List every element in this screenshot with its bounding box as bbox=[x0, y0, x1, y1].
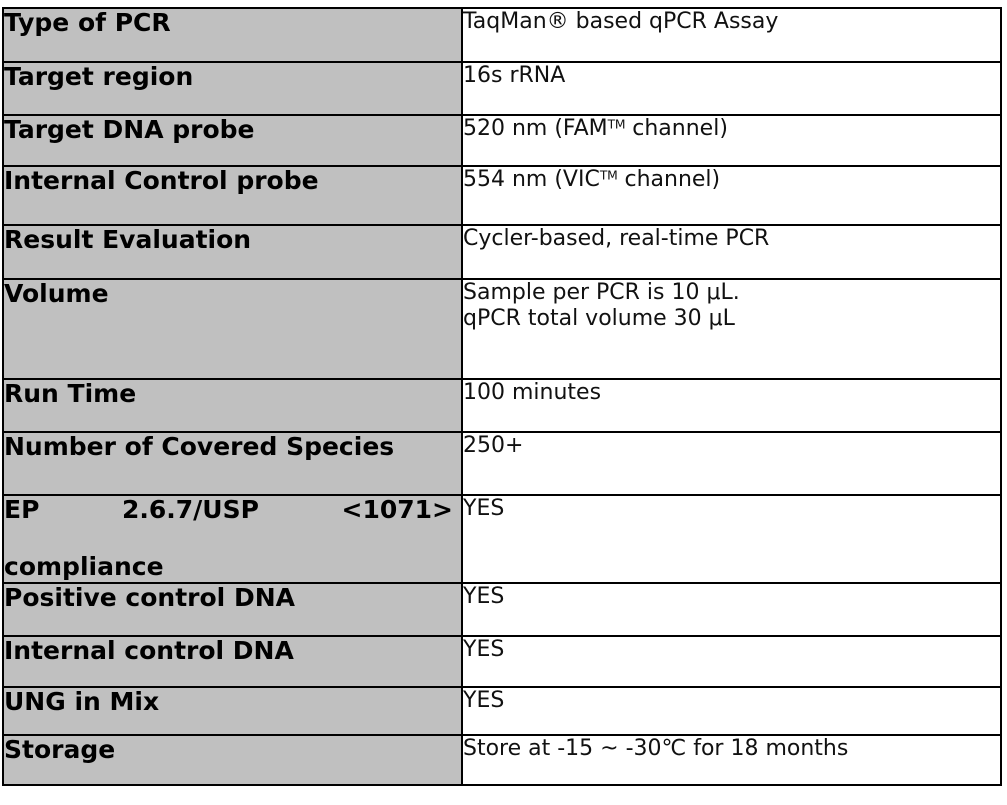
row-value: YES bbox=[463, 496, 1000, 522]
row-value: TaqMan® based qPCR Assay bbox=[463, 9, 1000, 35]
row-value: YES bbox=[463, 688, 1000, 714]
row-value-prefix: 520 nm (FAM bbox=[463, 116, 608, 141]
table-row: Positive control DNAYES bbox=[3, 583, 1001, 636]
row-value: YES bbox=[463, 584, 1000, 610]
row-value: 554 nm (VICTM channel) bbox=[463, 167, 1000, 193]
row-label: Positive control DNA bbox=[4, 583, 295, 612]
row-label-cell: Result Evaluation bbox=[3, 225, 462, 279]
row-value-prefix: 554 nm (VIC bbox=[463, 167, 600, 192]
row-value: 250+ bbox=[463, 433, 1000, 459]
row-value-cell: 250+ bbox=[462, 432, 1001, 495]
row-label-cell: Target region bbox=[3, 62, 462, 115]
row-label: Number of Covered Species bbox=[4, 432, 394, 461]
row-label-cell: Type of PCR bbox=[3, 8, 462, 62]
row-value-cell: 554 nm (VICTM channel) bbox=[462, 166, 1001, 225]
row-value: Store at -15 ~ -30℃ for 18 months bbox=[463, 736, 1000, 762]
row-label: Target region bbox=[4, 62, 193, 91]
row-value-suffix: channel) bbox=[625, 116, 728, 141]
row-label: Volume bbox=[4, 279, 109, 308]
table-row: Type of PCRTaqMan® based qPCR Assay bbox=[3, 8, 1001, 62]
row-label: Target DNA probe bbox=[4, 115, 255, 144]
trademark-icon: TM bbox=[608, 118, 626, 132]
row-value: YES bbox=[463, 637, 1000, 663]
row-value-cell: YES bbox=[462, 687, 1001, 735]
row-label-cell: UNG in Mix bbox=[3, 687, 462, 735]
row-label-cell: Positive control DNA bbox=[3, 583, 462, 636]
row-label-line: compliance bbox=[4, 552, 164, 581]
table-row: Result EvaluationCycler-based, real-time… bbox=[3, 225, 1001, 279]
row-value-cell: YES bbox=[462, 583, 1001, 636]
row-value: qPCR total volume 30 μL bbox=[463, 306, 1000, 332]
row-label-line: EP 2.6.7/USP <1071> bbox=[4, 496, 461, 553]
row-value: 520 nm (FAMTM channel) bbox=[463, 116, 1000, 142]
row-value: 16s rRNA bbox=[463, 63, 1000, 89]
row-label-cell: Internal control DNA bbox=[3, 636, 462, 687]
row-label: Internal control DNA bbox=[4, 636, 294, 665]
row-value-suffix: channel) bbox=[618, 167, 721, 192]
table-row: VolumeSample per PCR is 10 μL.qPCR total… bbox=[3, 279, 1001, 379]
table-row: Target DNA probe520 nm (FAMTM channel) bbox=[3, 115, 1001, 166]
row-value: 100 minutes bbox=[463, 380, 1000, 406]
row-label-cell: EP 2.6.7/USP <1071>compliance bbox=[3, 495, 462, 583]
table-row: Number of Covered Species250+ bbox=[3, 432, 1001, 495]
row-value-cell: 100 minutes bbox=[462, 379, 1001, 432]
row-label: Run Time bbox=[4, 379, 136, 408]
pcr-specification-table: Type of PCRTaqMan® based qPCR AssayTarge… bbox=[2, 7, 1002, 786]
row-value-cell: Store at -15 ~ -30℃ for 18 months bbox=[462, 735, 1001, 785]
row-label-cell: Internal Control probe bbox=[3, 166, 462, 225]
table-body: Type of PCRTaqMan® based qPCR AssayTarge… bbox=[3, 8, 1001, 785]
row-value-cell: Sample per PCR is 10 μL.qPCR total volum… bbox=[462, 279, 1001, 379]
table-row: EP 2.6.7/USP <1071>complianceYES bbox=[3, 495, 1001, 583]
row-value-cell: YES bbox=[462, 636, 1001, 687]
row-value: Cycler-based, real-time PCR bbox=[463, 226, 1000, 252]
trademark-icon: TM bbox=[600, 169, 618, 183]
table-row: Internal control DNAYES bbox=[3, 636, 1001, 687]
table-row: Run Time100 minutes bbox=[3, 379, 1001, 432]
table-row: UNG in MixYES bbox=[3, 687, 1001, 735]
row-label: Storage bbox=[4, 735, 115, 764]
row-value-cell: YES bbox=[462, 495, 1001, 583]
row-label-cell: Storage bbox=[3, 735, 462, 785]
row-value-cell: 16s rRNA bbox=[462, 62, 1001, 115]
row-value: Sample per PCR is 10 μL. bbox=[463, 280, 1000, 306]
row-label-cell: Run Time bbox=[3, 379, 462, 432]
row-label: Internal Control probe bbox=[4, 166, 319, 195]
row-label-cell: Number of Covered Species bbox=[3, 432, 462, 495]
row-label-cell: Target DNA probe bbox=[3, 115, 462, 166]
row-value-cell: TaqMan® based qPCR Assay bbox=[462, 8, 1001, 62]
table-row: StorageStore at -15 ~ -30℃ for 18 months bbox=[3, 735, 1001, 785]
row-value-cell: Cycler-based, real-time PCR bbox=[462, 225, 1001, 279]
row-label: Result Evaluation bbox=[4, 225, 251, 254]
row-value-cell: 520 nm (FAMTM channel) bbox=[462, 115, 1001, 166]
row-label: UNG in Mix bbox=[4, 687, 159, 716]
table-row: Target region16s rRNA bbox=[3, 62, 1001, 115]
table-row: Internal Control probe554 nm (VICTM chan… bbox=[3, 166, 1001, 225]
row-label-cell: Volume bbox=[3, 279, 462, 379]
row-label: Type of PCR bbox=[4, 8, 171, 37]
